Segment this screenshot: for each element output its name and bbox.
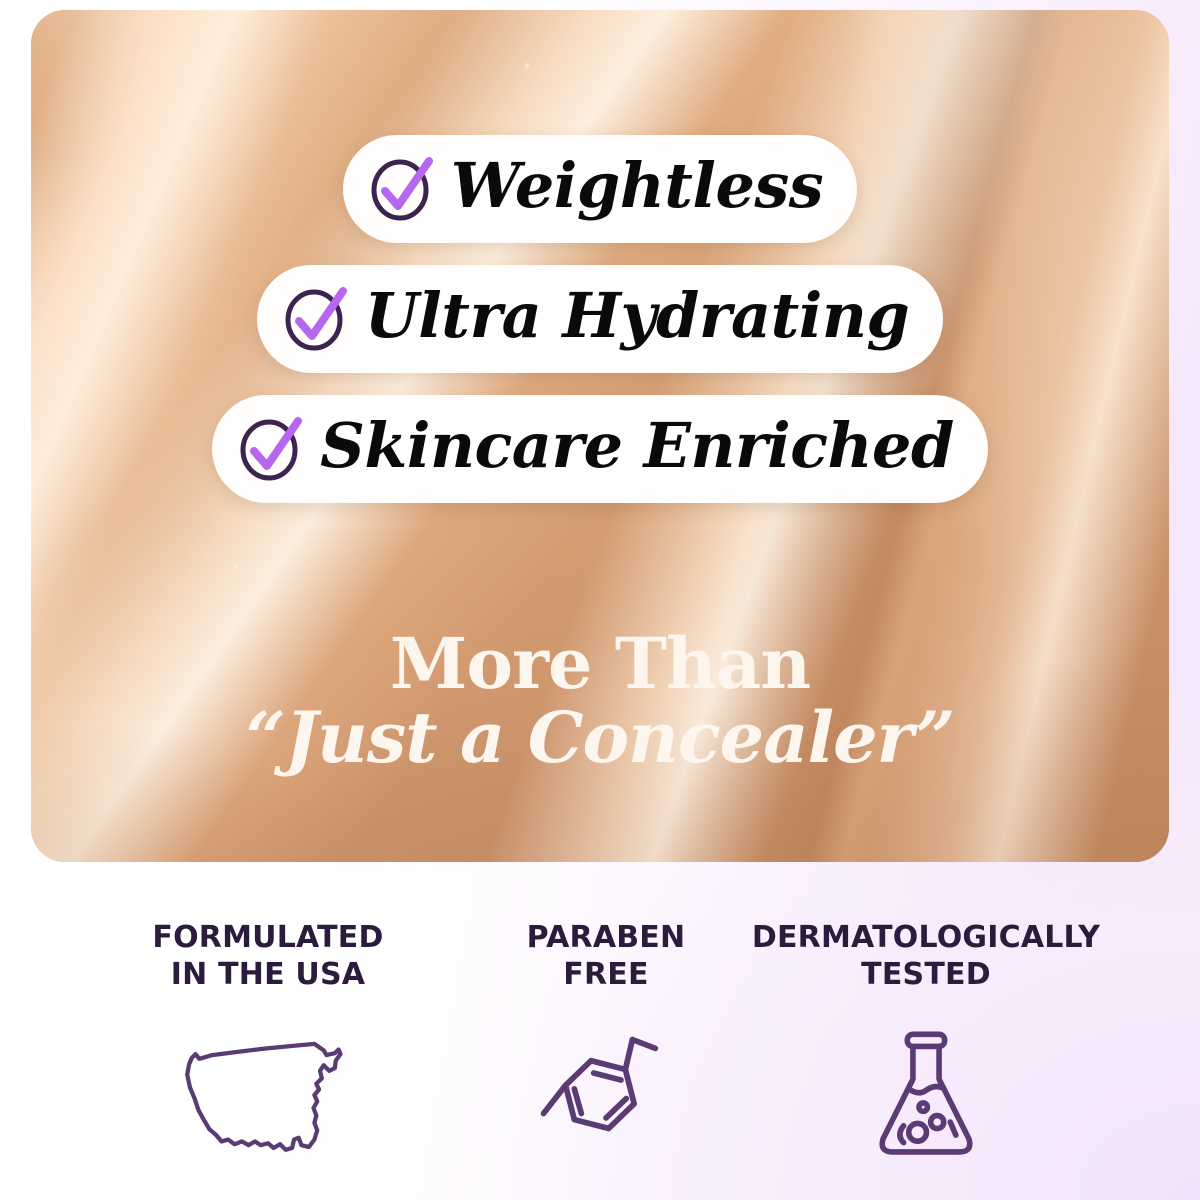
product-infographic-page: Weightless Ultra Hydrating: [0, 0, 1200, 1200]
claim-badge-dermatologically-tested: DERMATOLOGICALLY TESTED: [736, 920, 1116, 1163]
claim-badge-label: PARABEN FREE: [527, 920, 686, 993]
feature-pill-list: Weightless Ultra Hydrating: [31, 135, 1169, 503]
check-circle-icon: [238, 416, 304, 482]
hero-texture-card: Weightless Ultra Hydrating: [31, 10, 1169, 862]
flask-icon: [870, 1027, 982, 1163]
feature-pill-weightless: Weightless: [343, 135, 857, 243]
check-circle-icon: [369, 156, 435, 222]
claim-badge-paraben-free: PARABEN FREE: [476, 920, 736, 1163]
feature-pill-label: Weightless: [451, 155, 823, 223]
molecule-icon: [540, 1027, 672, 1163]
claim-badge-label: FORMULATED IN THE USA: [152, 920, 383, 993]
claim-badge-row: FORMULATED IN THE USA PARABEN FREE: [60, 920, 1140, 1163]
headline-line-1: More Than: [31, 628, 1169, 701]
check-circle-icon: [283, 286, 349, 352]
usa-map-icon: [175, 1027, 361, 1163]
claim-badge-formulated-in-usa: FORMULATED IN THE USA: [88, 920, 448, 1163]
feature-pill-ultra-hydrating: Ultra Hydrating: [257, 265, 944, 373]
headline-line-2: “Just a Concealer”: [31, 701, 1169, 775]
feature-pill-label: Ultra Hydrating: [365, 285, 910, 353]
hero-headline: More Than “Just a Concealer”: [31, 628, 1169, 775]
feature-pill-label: Skincare Enriched: [320, 415, 954, 483]
feature-pill-skincare-enriched: Skincare Enriched: [212, 395, 988, 503]
claim-badge-label: DERMATOLOGICALLY TESTED: [752, 920, 1100, 993]
